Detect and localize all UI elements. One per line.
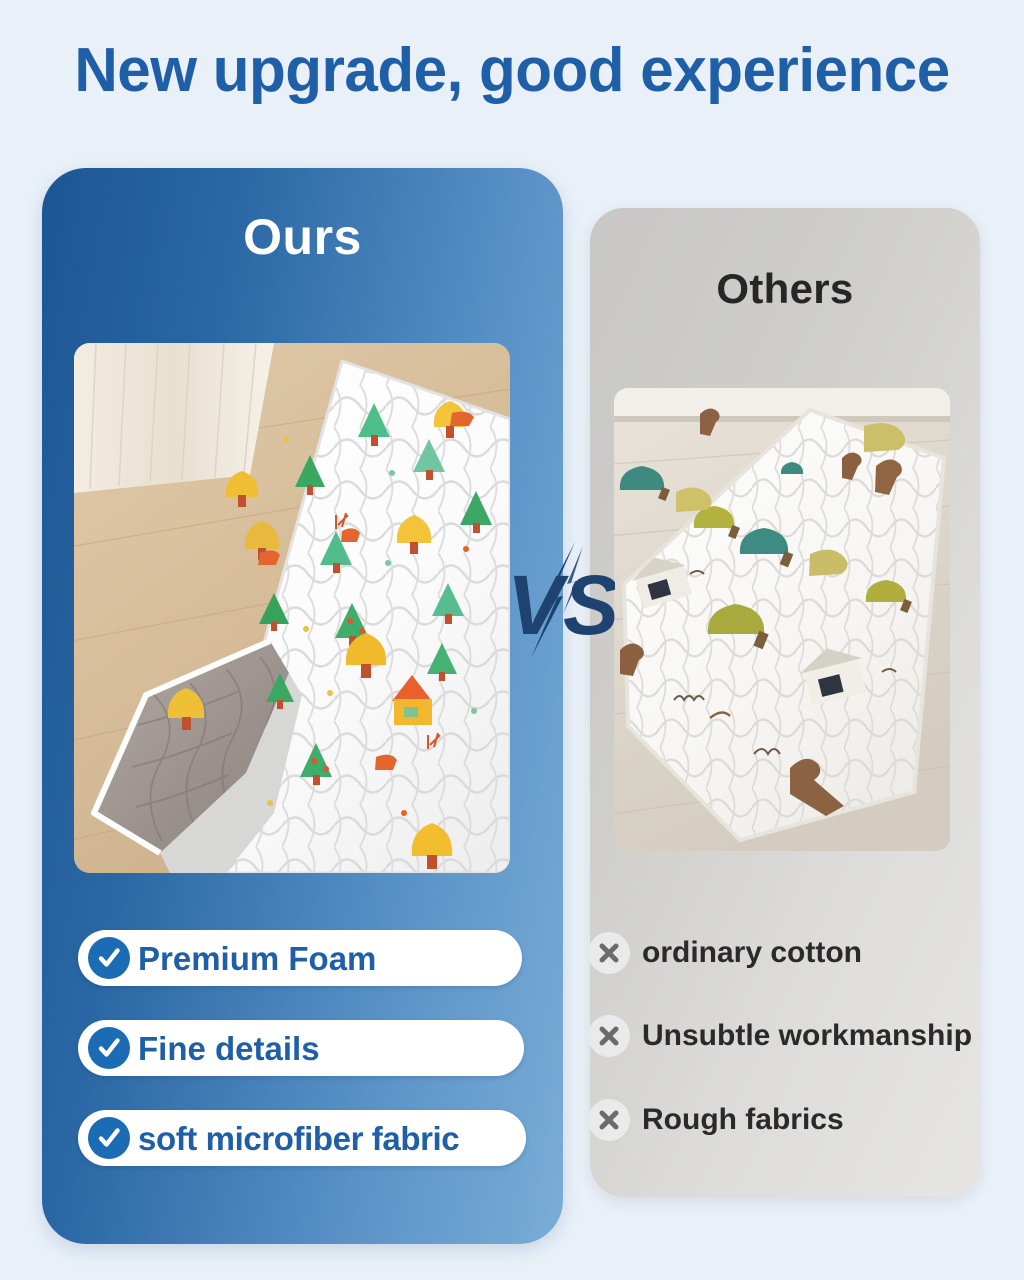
check-circle-icon <box>88 1117 130 1159</box>
check-circle-icon <box>88 1027 130 1069</box>
ours-product-photo <box>74 343 510 873</box>
page-title: New upgrade, good experience <box>15 38 1008 105</box>
check-circle-icon <box>88 937 130 979</box>
drawback-row-unsubtle-workmanship: Unsubtle workmanship <box>588 1016 972 1056</box>
feature-pill-fine-details[interactable]: Fine details <box>78 1020 524 1076</box>
ours-photo-illustration <box>74 343 510 873</box>
drawback-label: ordinary cotton <box>630 938 862 968</box>
others-product-photo <box>614 388 950 851</box>
drawback-label: Unsubtle workmanship <box>630 1021 972 1051</box>
others-heading: Others <box>590 265 980 313</box>
ours-heading: Ours <box>42 208 563 266</box>
feature-pill-soft-microfiber-fabric[interactable]: soft microfiber fabric <box>78 1110 526 1166</box>
drawback-row-rough-fabrics: Rough fabrics <box>588 1100 844 1140</box>
feature-label: soft microfiber fabric <box>130 1122 459 1155</box>
feature-label: Premium Foam <box>130 942 376 975</box>
feature-pill-premium-foam[interactable]: Premium Foam <box>78 930 522 986</box>
drawback-row-ordinary-cotton: ordinary cotton <box>588 933 862 973</box>
others-photo-illustration <box>614 388 950 851</box>
drawback-label: Rough fabrics <box>630 1105 844 1135</box>
feature-label: Fine details <box>130 1032 320 1065</box>
x-circle-icon <box>588 1099 630 1141</box>
x-circle-icon <box>588 932 630 974</box>
x-circle-icon <box>588 1015 630 1057</box>
